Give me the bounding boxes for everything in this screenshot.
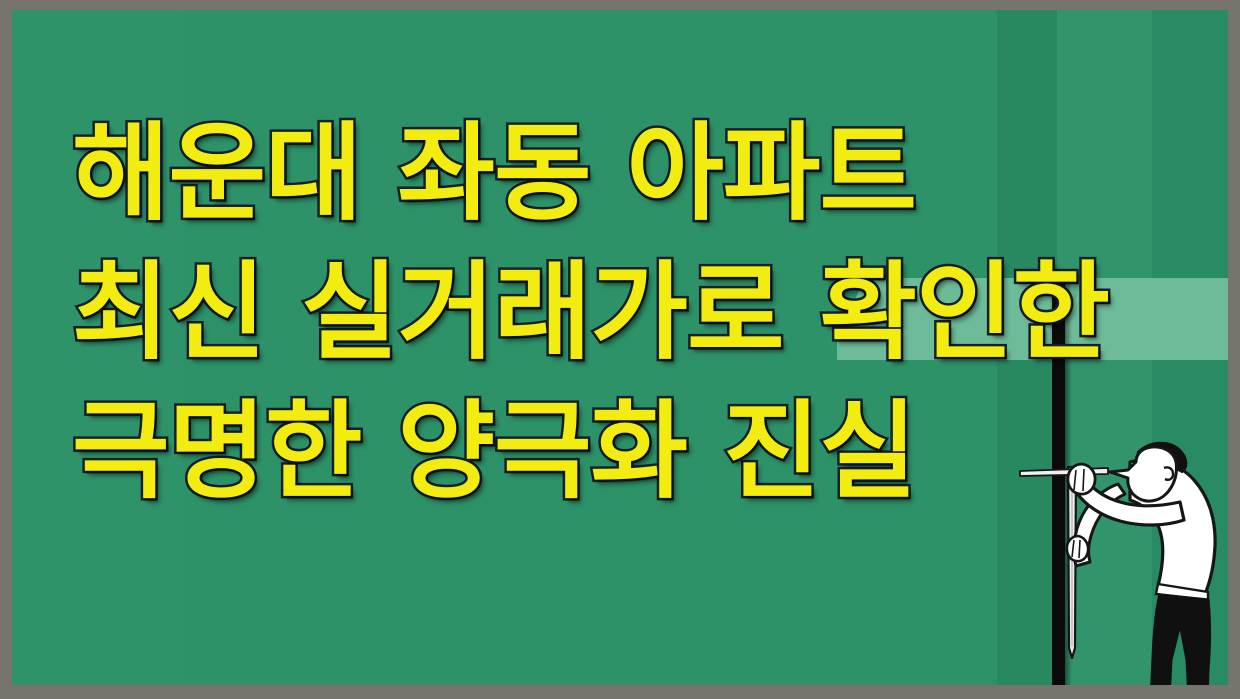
- headline-line-1: 해운대 좌동 아파트: [72, 104, 1202, 243]
- lower-hand: [1067, 536, 1088, 561]
- headline-line-2: 최신 실거래가로 확인한: [72, 243, 1202, 382]
- headline: 해운대 좌동 아파트 최신 실거래가로 확인한 극명한 양극화 진실: [72, 104, 1202, 521]
- thumbnail-canvas: 해운대 좌동 아파트 최신 실거래가로 확인한 극명한 양극화 진실: [0, 0, 1240, 699]
- headline-line-3: 극명한 양극화 진실: [72, 382, 1202, 521]
- trousers: [1150, 594, 1211, 685]
